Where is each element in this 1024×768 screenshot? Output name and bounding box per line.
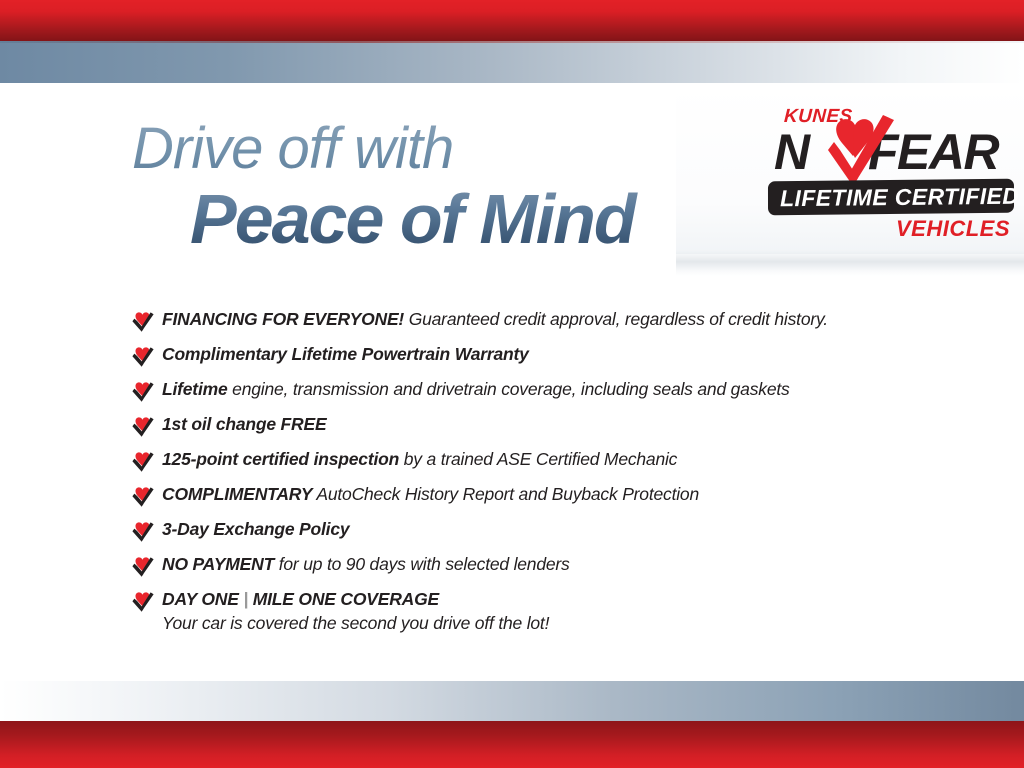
kunes-no-fear-logo: KUNES N FEAR LIFETIME CERTIFIED VEHICLES — [768, 106, 1016, 248]
top-red-banner-bar — [0, 0, 1024, 41]
list-item-text: 125-point certified inspection by a trai… — [162, 448, 677, 470]
list-item-normal: Guaranteed credit approval, regardless o… — [404, 309, 828, 329]
heart-check-icon — [131, 589, 155, 613]
logo-letter-n: N — [774, 126, 809, 178]
feature-list: FINANCING FOR EVERYONE! Guaranteed credi… — [131, 308, 931, 635]
list-item: COMPLIMENTARY AutoCheck History Report a… — [131, 483, 931, 508]
heart-check-icon — [131, 344, 155, 368]
heart-check-icon — [131, 414, 155, 438]
list-item-bold: COMPLIMENTARY — [162, 484, 312, 504]
list-item: 3-Day Exchange Policy — [131, 518, 931, 543]
list-item-text: 1st oil change FREE — [162, 413, 326, 435]
list-item: NO PAYMENT for up to 90 days with select… — [131, 553, 931, 578]
list-item-text: Complimentary Lifetime Powertrain Warran… — [162, 343, 529, 365]
list-item-text: NO PAYMENT for up to 90 days with select… — [162, 553, 570, 575]
list-item: Complimentary Lifetime Powertrain Warran… — [131, 343, 931, 368]
list-item: 1st oil change FREE — [131, 413, 931, 438]
heart-check-icon — [131, 309, 155, 333]
list-item-text: FINANCING FOR EVERYONE! Guaranteed credi… — [162, 308, 828, 330]
list-item-text: 3-Day Exchange Policy — [162, 518, 349, 540]
list-item-bold-a: DAY ONE — [162, 589, 239, 609]
list-item-text: DAY ONE | MILE ONE COVERAGE — [162, 588, 439, 610]
logo-no-fear-wordmark: N FEAR — [772, 124, 1016, 182]
list-item: Lifetime engine, transmission and drivet… — [131, 378, 931, 403]
list-item-normal: engine, transmission and drivetrain cove… — [228, 379, 790, 399]
list-item-main-line: DAY ONE | MILE ONE COVERAGE — [131, 588, 931, 613]
list-item-bold: 1st oil change FREE — [162, 414, 326, 434]
list-item-separator: | — [239, 589, 253, 609]
list-item-normal: by a trained ASE Certified Mechanic — [399, 449, 677, 469]
heart-check-icon — [131, 379, 155, 403]
list-item-text: COMPLIMENTARY AutoCheck History Report a… — [162, 483, 699, 505]
list-item-bold-b: MILE ONE COVERAGE — [253, 589, 439, 609]
heart-check-icon — [131, 519, 155, 543]
list-item-bold: 3-Day Exchange Policy — [162, 519, 349, 539]
list-item-normal: AutoCheck History Report and Buyback Pro… — [312, 484, 699, 504]
heart-check-icon — [131, 484, 155, 508]
heart-check-icon — [131, 554, 155, 578]
list-item-bold: Complimentary Lifetime Powertrain Warran… — [162, 344, 529, 364]
heart-check-icon — [131, 449, 155, 473]
list-item-text: Lifetime engine, transmission and drivet… — [162, 378, 790, 400]
headline-line-1: Drive off with — [132, 118, 752, 180]
list-item-bold: NO PAYMENT — [162, 554, 274, 574]
bottom-red-banner-bar — [0, 721, 1024, 768]
list-item: FINANCING FOR EVERYONE! Guaranteed credi… — [131, 308, 931, 333]
list-item-subtext: Your car is covered the second you drive… — [162, 611, 931, 635]
logo-word-vehicles: VEHICLES — [896, 216, 1010, 242]
heart-check-icon — [812, 114, 896, 190]
list-item-bold: Lifetime — [162, 379, 228, 399]
top-slate-banner-bar — [0, 41, 1024, 83]
list-item-bold: FINANCING FOR EVERYONE! — [162, 309, 404, 329]
list-item-bold: 125-point certified inspection — [162, 449, 399, 469]
list-item: 125-point certified inspection by a trai… — [131, 448, 931, 473]
headline-block: Drive off with Peace of Mind — [132, 118, 752, 256]
list-item-normal: for up to 90 days with selected lenders — [274, 554, 570, 574]
headline-line-2: Peace of Mind — [190, 182, 752, 256]
list-item: DAY ONE | MILE ONE COVERAGE Your car is … — [131, 588, 931, 635]
logo-certified-bar-text: LIFETIME CERTIFIED — [780, 182, 1012, 212]
bottom-slate-banner-bar — [0, 681, 1024, 721]
